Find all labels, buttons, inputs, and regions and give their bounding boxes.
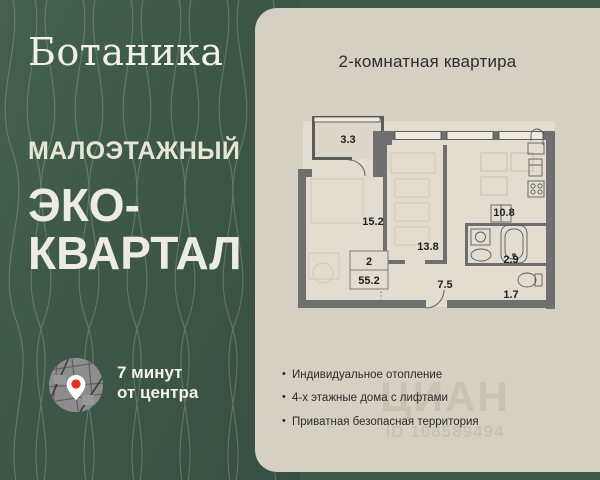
area-label-hallway: 7.5: [437, 279, 452, 291]
area-label-bathroom: 2.9: [503, 254, 518, 266]
page-title: 2-комнатная квартира: [255, 52, 600, 72]
area-label-balcony: 3.3: [340, 134, 355, 146]
area-label-bedroom: 15.2: [362, 216, 383, 228]
features-list: • Индивидуальное отопление • 4-х этажные…: [282, 368, 582, 438]
tagline-line-1: ЭКО-: [28, 181, 278, 229]
feature-text: 4-х этажные дома с лифтами: [292, 391, 582, 405]
list-item: • 4-х этажные дома с лифтами: [282, 391, 582, 405]
tagline-small: МАЛОЭТАЖНЫЙ: [28, 139, 240, 164]
floorplan-drawing[interactable]: 3.3 15.2 13.8 10.8 2.9 1.7 7.5 2 55.2: [295, 113, 563, 321]
area-label-wc: 1.7: [503, 289, 518, 301]
tagline-large: ЭКО- КВАРТАЛ: [28, 181, 278, 278]
brand-logo: Ботаника: [28, 33, 224, 71]
travel-time-from: от центра: [117, 383, 198, 403]
floorplan-panel: 2-комнатная квартира ЦИАН ID 108589494: [255, 8, 600, 472]
list-item: • Индивидуальное отопление: [282, 368, 582, 382]
travel-time-label: 7 минут от центра: [117, 363, 198, 402]
feature-text: Индивидуальное отопление: [292, 368, 582, 382]
listing-card: Ботаника МАЛОЭТАЖНЫЙ ЭКО- КВАРТАЛ: [0, 0, 600, 480]
bullet-icon: •: [282, 415, 292, 429]
area-label-kitchen: 10.8: [493, 207, 514, 219]
bullet-icon: •: [282, 368, 292, 382]
summary-total-area: 55.2: [358, 275, 379, 287]
area-label-living-room: 13.8: [417, 241, 438, 253]
list-item: • Приватная безопасная территория: [282, 415, 582, 429]
map-pin-icon: [48, 357, 104, 413]
bullet-icon: •: [282, 391, 292, 405]
feature-text: Приватная безопасная территория: [292, 415, 582, 429]
summary-badge: 2 55.2: [350, 251, 388, 289]
travel-time-value: 7 минут: [117, 363, 198, 383]
summary-rooms: 2: [366, 256, 372, 268]
tagline-line-2: КВАРТАЛ: [28, 229, 278, 277]
map-thumbnail[interactable]: [48, 357, 104, 413]
